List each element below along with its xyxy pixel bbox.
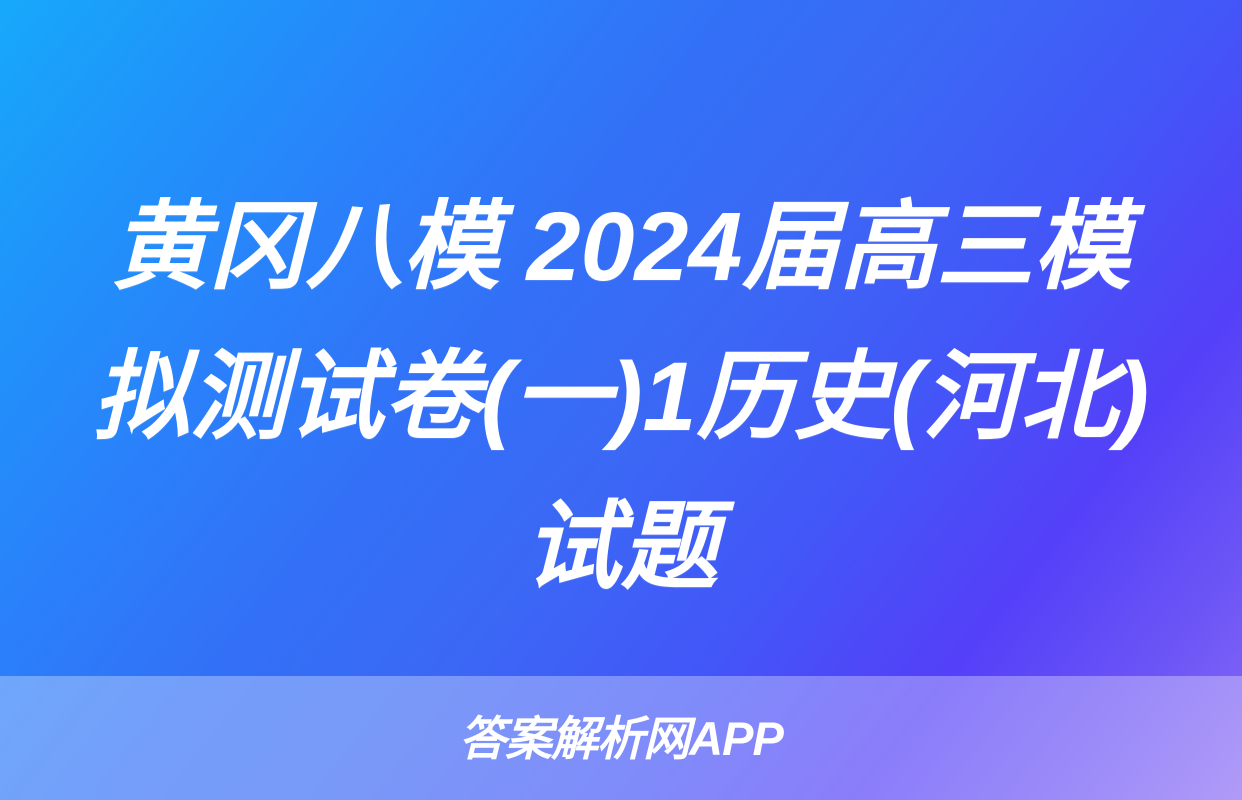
app-watermark-label: 答案解析网APP (459, 715, 783, 762)
footer-watermark-band: 答案解析网APP (0, 676, 1242, 800)
page-title: 黄冈八模 2024届高三模拟测试卷(一)1历史(河北)试题 (78, 172, 1164, 622)
title-container: 黄冈八模 2024届高三模拟测试卷(一)1历史(河北)试题 (0, 172, 1242, 642)
exam-cover-card: 黄冈八模 2024届高三模拟测试卷(一)1历史(河北)试题 答案解析网APP (0, 0, 1242, 800)
